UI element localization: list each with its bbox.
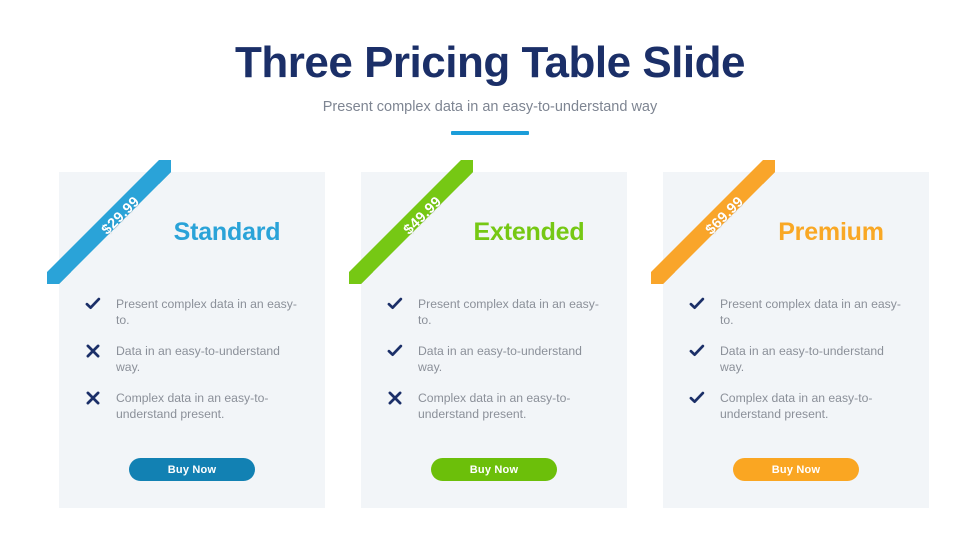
feature-text: Present complex data in an easy-to.: [720, 296, 909, 329]
cross-icon: [85, 390, 103, 408]
pricing-cards-row: $29.99StandardPresent complex data in an…: [0, 172, 980, 512]
buy-now-button-extended[interactable]: Buy Now: [431, 458, 557, 481]
feature-list-extended: Present complex data in an easy-to.Data …: [387, 296, 607, 437]
feature-item: Present complex data in an easy-to.: [689, 296, 909, 329]
check-icon: [689, 296, 707, 314]
pricing-card-extended: $49.99ExtendedPresent complex data in an…: [361, 172, 627, 508]
feature-list-premium: Present complex data in an easy-to.Data …: [689, 296, 909, 437]
feature-text: Present complex data in an easy-to.: [418, 296, 607, 329]
feature-text: Present complex data in an easy-to.: [116, 296, 305, 329]
check-icon: [387, 296, 405, 314]
cross-icon: [85, 343, 103, 361]
feature-text: Complex data in an easy-to-understand pr…: [418, 390, 607, 423]
page-subtitle: Present complex data in an easy-to-under…: [0, 99, 980, 115]
page-title: Three Pricing Table Slide: [0, 38, 980, 87]
buy-now-button-premium[interactable]: Buy Now: [733, 458, 859, 481]
feature-item: Data in an easy-to-understand way.: [689, 343, 909, 376]
feature-list-standard: Present complex data in an easy-to.Data …: [85, 296, 305, 437]
pricing-card-premium: $69.99PremiumPresent complex data in an …: [663, 172, 929, 508]
title-accent-bar: [451, 131, 529, 135]
feature-text: Data in an easy-to-understand way.: [418, 343, 607, 376]
check-icon: [689, 390, 707, 408]
feature-item: Present complex data in an easy-to.: [85, 296, 305, 329]
feature-text: Complex data in an easy-to-understand pr…: [116, 390, 305, 423]
check-icon: [689, 343, 707, 361]
feature-text: Data in an easy-to-understand way.: [116, 343, 305, 376]
check-icon: [387, 343, 405, 361]
feature-item: Complex data in an easy-to-understand pr…: [387, 390, 607, 423]
card-title-extended: Extended: [431, 218, 627, 247]
cross-icon: [387, 390, 405, 408]
check-icon: [85, 296, 103, 314]
card-title-standard: Standard: [129, 218, 325, 247]
feature-text: Data in an easy-to-understand way.: [720, 343, 909, 376]
feature-item: Data in an easy-to-understand way.: [85, 343, 305, 376]
feature-item: Present complex data in an easy-to.: [387, 296, 607, 329]
buy-now-button-standard[interactable]: Buy Now: [129, 458, 255, 481]
card-title-premium: Premium: [733, 218, 929, 247]
feature-item: Data in an easy-to-understand way.: [387, 343, 607, 376]
feature-item: Complex data in an easy-to-understand pr…: [85, 390, 305, 423]
pricing-card-standard: $29.99StandardPresent complex data in an…: [59, 172, 325, 508]
feature-text: Complex data in an easy-to-understand pr…: [720, 390, 909, 423]
feature-item: Complex data in an easy-to-understand pr…: [689, 390, 909, 423]
slide-header: Three Pricing Table Slide Present comple…: [0, 0, 980, 135]
